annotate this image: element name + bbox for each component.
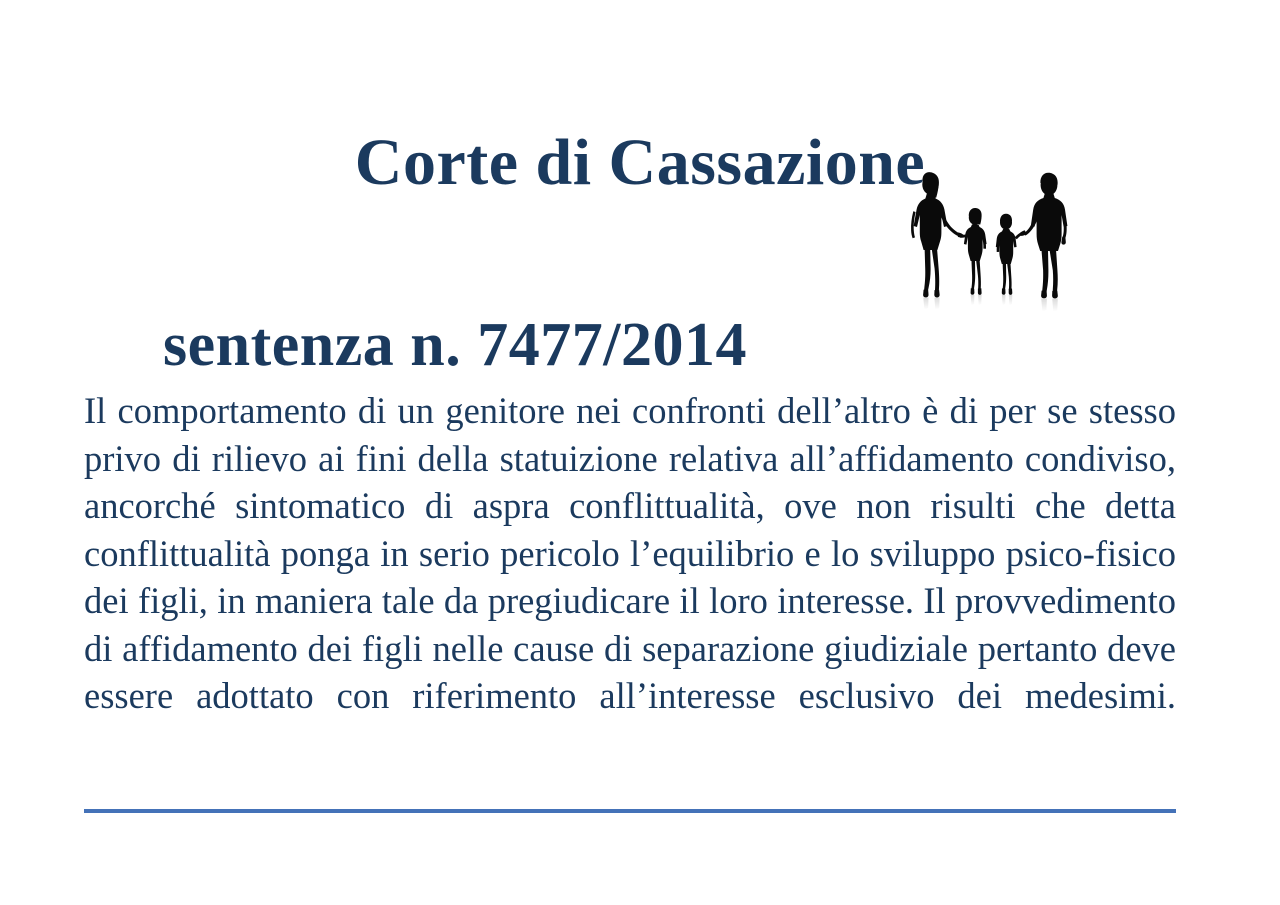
boy-reflection xyxy=(1002,295,1012,306)
body-paragraph: Il comportamento di un genitore nei conf… xyxy=(84,387,1176,767)
girl-silhouette xyxy=(960,208,987,295)
family-silhouette-image xyxy=(903,172,1085,332)
father-silhouette xyxy=(1019,173,1067,299)
body-text-block: Il comportamento di un genitore nei conf… xyxy=(84,387,1176,767)
mother-silhouette xyxy=(911,172,964,297)
girl-reflection xyxy=(971,295,982,306)
page-title: Corte di Cassazione xyxy=(0,128,1280,197)
father-reflection xyxy=(1041,298,1058,311)
bottom-divider-rule xyxy=(84,809,1176,813)
mother-reflection xyxy=(923,298,939,310)
page-subtitle: sentenza n. 7477/2014 xyxy=(163,313,747,378)
boy-silhouette xyxy=(996,214,1026,295)
slide-canvas: Corte di Cassazione sentenza n. 7477/201… xyxy=(0,0,1280,905)
